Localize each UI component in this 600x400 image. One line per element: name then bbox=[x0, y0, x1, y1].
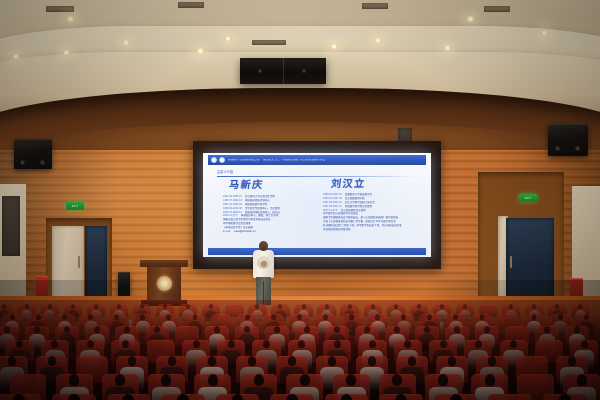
audience-member-head bbox=[177, 394, 189, 400]
audience-member-head bbox=[371, 304, 375, 309]
audience-member-head bbox=[271, 314, 276, 320]
ceiling-vent bbox=[362, 3, 388, 9]
audience-member-head bbox=[10, 314, 15, 320]
audience-member-head bbox=[375, 314, 380, 320]
audience-member-head bbox=[263, 340, 270, 348]
audience-member-head bbox=[574, 326, 580, 333]
podium-top bbox=[140, 260, 188, 267]
audience-member-head bbox=[193, 340, 200, 348]
audience-member-head bbox=[122, 340, 129, 348]
ceiling-downlight bbox=[374, 38, 382, 43]
audience-member-head bbox=[577, 374, 587, 386]
audience-member-head bbox=[34, 326, 40, 333]
audience-member-head bbox=[334, 340, 341, 348]
organization-logo-right-icon bbox=[219, 157, 225, 163]
speaker-driver-icon bbox=[575, 146, 580, 151]
audience-member-head bbox=[369, 340, 376, 348]
audience-member-head bbox=[364, 326, 370, 333]
audience-member-head bbox=[297, 314, 302, 320]
podium-emblem-icon bbox=[157, 276, 172, 291]
audience-member-head bbox=[427, 314, 432, 320]
speaker-driver-icon bbox=[20, 160, 25, 165]
audience-member-head bbox=[568, 356, 576, 366]
ceiling-downlight bbox=[196, 48, 205, 54]
audience-member-head bbox=[8, 356, 16, 366]
audience-member-head bbox=[532, 304, 536, 309]
audience-member-head bbox=[274, 326, 280, 333]
audience-member-head bbox=[323, 314, 328, 320]
ceiling-vent bbox=[484, 6, 510, 12]
projector-housing bbox=[240, 58, 326, 84]
audience-member-head bbox=[245, 314, 250, 320]
audience-member-head bbox=[302, 304, 306, 309]
ceiling-vent bbox=[46, 6, 74, 12]
audience-member-head bbox=[394, 326, 400, 333]
audience-member-head bbox=[401, 314, 406, 320]
theater-seat bbox=[488, 394, 532, 400]
audience-member-head bbox=[140, 314, 145, 320]
audience-member-head bbox=[114, 314, 119, 320]
audience-member-head bbox=[304, 326, 310, 333]
audience-member-head bbox=[25, 304, 29, 309]
audience-member-head bbox=[69, 374, 79, 386]
right-door-glass bbox=[506, 218, 554, 302]
audience-member-head bbox=[87, 340, 94, 348]
audience-member-head bbox=[288, 356, 296, 366]
speaker-bio-list-left: 1982.09-1986.07北京医科大学公共卫生学院1986.07-1991.… bbox=[223, 195, 315, 234]
exit-sign-right-label: EXIT bbox=[525, 197, 532, 200]
ceiling-vent bbox=[252, 40, 286, 45]
slide-divider-rule bbox=[217, 176, 417, 177]
audience-member-head bbox=[88, 314, 93, 320]
audience-member-head bbox=[488, 356, 496, 366]
projector-lens-icon bbox=[302, 69, 306, 73]
audience-member-head bbox=[581, 340, 588, 348]
audience-member-head bbox=[510, 340, 517, 348]
ceiling-downlight bbox=[466, 16, 475, 22]
audience-member-head bbox=[94, 304, 98, 309]
ceiling-downlight bbox=[330, 44, 338, 49]
exit-sign-left: EXIT bbox=[66, 202, 84, 210]
audience-member-head bbox=[480, 314, 485, 320]
audience-member-head bbox=[438, 374, 448, 386]
ceiling-downlight bbox=[224, 36, 232, 41]
bio-item-date: E-mail: bbox=[223, 230, 231, 234]
slide-subtitle: 主讲人介绍 bbox=[217, 171, 233, 174]
audience-member-head bbox=[4, 326, 10, 333]
audience-member-head bbox=[300, 374, 310, 386]
audience-area bbox=[0, 300, 600, 400]
audience-member-head bbox=[255, 304, 259, 309]
speaker-bio-list-right: 1988.09-1993.07首都医科大学临床医学系1993.07-1997.0… bbox=[323, 193, 423, 232]
exit-sign-left-label: EXIT bbox=[72, 205, 79, 208]
bio-list-item: 享受国务院政府特殊津贴 bbox=[323, 228, 423, 232]
presenter-hands bbox=[261, 261, 267, 267]
audience-member-head bbox=[325, 304, 329, 309]
wall-speaker bbox=[548, 124, 588, 156]
audience-member-head bbox=[408, 356, 416, 366]
audience-member-head bbox=[544, 326, 550, 333]
ceiling-downlight bbox=[12, 54, 20, 59]
audience-member-head bbox=[228, 340, 235, 348]
ceiling-downlight bbox=[443, 45, 452, 51]
audience-member-head bbox=[349, 314, 354, 320]
audience-member-head bbox=[450, 394, 462, 400]
audience-member-head bbox=[71, 304, 75, 309]
audience-member-head bbox=[368, 356, 376, 366]
audience-member-head bbox=[475, 340, 482, 348]
bio-list-item: E-mail:maxq@chinacdc.cn bbox=[223, 230, 315, 234]
audience-member-head bbox=[161, 374, 171, 386]
audience-member-head bbox=[48, 356, 56, 366]
audience-member-head bbox=[334, 326, 340, 333]
audience-member-head bbox=[348, 304, 352, 309]
audience-member-head bbox=[193, 314, 198, 320]
audience-member-head bbox=[392, 374, 402, 386]
audience-member-head bbox=[484, 326, 490, 333]
audience-member-head bbox=[16, 340, 23, 348]
ceiling-vent bbox=[178, 2, 204, 8]
projector-lens-icon bbox=[258, 69, 262, 73]
ceiling-downlight bbox=[62, 50, 71, 55]
audience-member-head bbox=[209, 304, 213, 309]
audience-member-head bbox=[124, 326, 130, 333]
audience-member-head bbox=[286, 394, 298, 400]
audience-member-head bbox=[140, 304, 144, 309]
audience-member-head bbox=[214, 326, 220, 333]
organization-logo-left-icon bbox=[211, 157, 217, 163]
slide-header-title: “健康教育”知识进校园工程 · “清洁是天卫士 · 中国疾控挑战” 防治校区健康… bbox=[227, 159, 325, 162]
audience-member-head bbox=[64, 326, 70, 333]
audience-member-head bbox=[584, 314, 589, 320]
ceiling-downlight bbox=[122, 40, 130, 45]
audience-member-head bbox=[163, 304, 167, 309]
audience-member-head bbox=[48, 304, 52, 309]
wall-speaker bbox=[14, 139, 52, 169]
audience-member-head bbox=[128, 356, 136, 366]
audience-member-head bbox=[254, 374, 264, 386]
projector-housing-divider bbox=[283, 58, 284, 84]
speaker-name-left: 马新庆 bbox=[228, 181, 264, 191]
audience-member-head bbox=[394, 304, 398, 309]
audience-member-head bbox=[417, 304, 421, 309]
speaker-driver-icon bbox=[40, 160, 45, 165]
ceiling-downlight bbox=[540, 30, 549, 36]
presentation-slide: “健康教育”知识进校园工程 · “清洁是天卫士 · 中国疾控挑战” 防治校区健康… bbox=[203, 153, 431, 257]
audience-member-head bbox=[94, 326, 100, 333]
left-door-glass bbox=[85, 226, 107, 306]
audience-member-head bbox=[559, 394, 571, 400]
audience-member-head bbox=[248, 356, 256, 366]
audience-member-head bbox=[424, 326, 430, 333]
audience-member-head bbox=[115, 374, 125, 386]
audience-member-head bbox=[117, 304, 121, 309]
left-acoustic-panel bbox=[2, 196, 20, 256]
audience-member-head bbox=[328, 356, 336, 366]
slide-footer-bar bbox=[208, 248, 426, 255]
audience-member-head bbox=[68, 394, 80, 400]
audience-member-head bbox=[485, 374, 495, 386]
audience-member-head bbox=[463, 304, 467, 309]
audience-member-head bbox=[2, 304, 6, 309]
audience-member-head bbox=[440, 304, 444, 309]
speaker-name-right: 刘汉立 bbox=[330, 180, 366, 190]
audience-member-head bbox=[208, 374, 218, 386]
audience-member-head bbox=[454, 326, 460, 333]
audience-member-head bbox=[558, 314, 563, 320]
audience-member-head bbox=[509, 304, 513, 309]
presenter-head bbox=[259, 241, 268, 251]
speaker-driver-icon bbox=[555, 146, 560, 151]
audience-member-head bbox=[36, 314, 41, 320]
bio-item-text: 享受国务院政府特殊津贴 bbox=[323, 228, 351, 232]
audience-member-head bbox=[440, 340, 447, 348]
exit-sign-right: EXIT bbox=[519, 194, 537, 202]
audience-member-head bbox=[404, 340, 411, 348]
audience-member-head bbox=[166, 314, 171, 320]
audience-member-head bbox=[448, 356, 456, 366]
left-door-handle[interactable] bbox=[78, 256, 80, 268]
ceiling-downlight bbox=[66, 16, 75, 22]
bio-item-text: maxq@chinacdc.cn bbox=[234, 230, 256, 234]
audience-member-head bbox=[346, 374, 356, 386]
audience-member-head bbox=[453, 314, 458, 320]
audience-member-head bbox=[532, 314, 537, 320]
auditorium-photo: EXIT EXIT “健康教育”知识进校园工程 · “清洁是天卫士 · 中国疾控… bbox=[0, 0, 600, 400]
slide-header-bar: “健康教育”知识进校园工程 · “清洁是天卫士 · 中国疾控挑战” 防治校区健康… bbox=[208, 155, 426, 165]
right-door-handle[interactable] bbox=[510, 256, 512, 268]
audience-member-head bbox=[62, 314, 67, 320]
audience-member-head bbox=[244, 326, 250, 333]
audience-member-head bbox=[168, 356, 176, 366]
audience-member-head bbox=[186, 304, 190, 309]
audience-member-head bbox=[154, 326, 160, 333]
audience-member-head bbox=[208, 356, 216, 366]
audience-member-head bbox=[555, 304, 559, 309]
